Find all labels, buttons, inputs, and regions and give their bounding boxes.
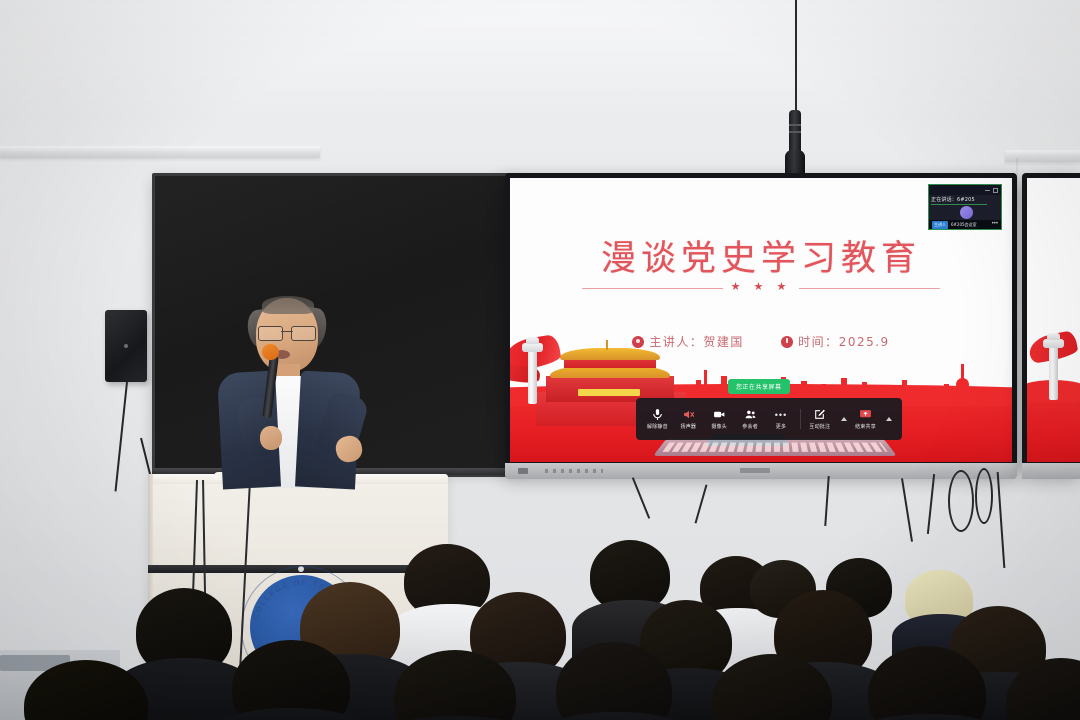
secondary-monument-column [1043, 330, 1065, 400]
toolbar-end-share-label: 结束共享 [855, 423, 876, 430]
toolbar-annotate-label: 互动批注 [809, 423, 830, 430]
meeting-toolbar[interactable]: 解除静音 扬声器 摄像头 [636, 398, 902, 440]
wall-cable-loop-1 [948, 470, 974, 532]
secondary-display[interactable] [1022, 173, 1080, 473]
slide-stars-text: ★ ★ ★ [723, 281, 800, 293]
pip-speaking-name: 6#205 [957, 197, 975, 203]
pip-role-tag: 主讲人 [932, 221, 948, 229]
display-ir-receiver [518, 468, 528, 474]
microphone-icon [651, 408, 664, 421]
speaker-screw [124, 344, 128, 348]
monument-column [522, 332, 542, 404]
toolbar-mute-label: 解除静音 [647, 423, 668, 430]
column-top [526, 337, 539, 344]
pip-avatar [960, 206, 973, 219]
toolbar-camera-label: 摄像头 [711, 423, 727, 430]
slide-time-value: 2025.9 [839, 335, 890, 349]
main-display-screen: 漫谈党史学习教育 ★ ★ ★ 主讲人：贺建国 时间：2025.9 [510, 178, 1012, 462]
ceiling-mic-ring-2 [789, 131, 801, 133]
wall-cable-loop-2 [975, 468, 993, 524]
toolbar-end-share-button[interactable]: 结束共享 [854, 408, 878, 430]
toolbar-participants-button[interactable]: 参会者 [738, 408, 762, 430]
toolbar-camera-button[interactable]: 摄像头 [707, 408, 731, 430]
glasses-lens-right [291, 326, 316, 341]
end-share-caret-icon[interactable] [886, 417, 892, 421]
pip-minimize-icon[interactable] [985, 190, 990, 191]
ceiling-mic-ring [789, 124, 801, 126]
presentation-slide: 漫谈党史学习教育 ★ ★ ★ 主讲人：贺建国 时间：2025.9 [510, 178, 1012, 462]
main-display[interactable]: 漫谈党史学习教育 ★ ★ ★ 主讲人：贺建国 时间：2025.9 [505, 173, 1017, 473]
slide-title: 漫谈党史学习教育 [510, 230, 1012, 281]
presenter [218, 298, 368, 488]
secondary-red-ground [1027, 392, 1080, 462]
toolbar-more-button[interactable]: ••• 更多 [769, 408, 793, 430]
tiananmen-banner [578, 389, 640, 396]
slide-time-label: 时间： [798, 335, 839, 349]
end-share-icon [859, 408, 872, 421]
toolbar-speaker-button[interactable]: 扬声器 [676, 408, 700, 430]
secondary-display-bezel [1022, 463, 1080, 479]
pip-maximize-icon[interactable] [993, 188, 998, 193]
slide-time-item: 时间：2025.9 [781, 333, 890, 350]
toolbar-more-label: 更多 [776, 423, 786, 430]
tiananmen-flagpole [606, 340, 608, 350]
glasses-lens-left [258, 326, 283, 341]
pip-speaking-underline [931, 204, 987, 205]
pip-participant-name: 6#205会议室 [951, 222, 977, 228]
participants-icon [744, 408, 757, 421]
slide-presenter-name: 贺建国 [703, 335, 744, 349]
glasses-icon [258, 326, 316, 339]
lecture-hall-scene: 漫谈党史学习教育 ★ ★ ★ 主讲人：贺建国 时间：2025.9 [0, 0, 1080, 720]
screen-share-badge: 您正在共享屏幕 [728, 379, 790, 394]
toolbar-divider [800, 409, 801, 429]
secondary-column-capital [1043, 339, 1064, 348]
presenter-left-hand [260, 426, 282, 450]
toolbar-participants-label: 参会者 [742, 423, 758, 430]
camera-icon [713, 408, 726, 421]
keyboard-reflection [653, 439, 897, 456]
presenter-hair-top [262, 296, 314, 314]
annotate-icon [813, 408, 826, 421]
pip-speaking-text: 正在讲话：6#205 [931, 196, 975, 203]
meeting-pip-window[interactable]: 正在讲话：6#205 主讲人 6#205会议室 ••• [928, 184, 1002, 230]
pip-more-icon[interactable]: ••• [992, 222, 998, 227]
column-shaft [528, 346, 537, 404]
secondary-column-top [1047, 333, 1060, 340]
column-capital [522, 343, 543, 352]
pip-titlebar[interactable] [929, 185, 1001, 195]
wall-trim-rail-left [0, 146, 320, 158]
secondary-display-screen [1027, 178, 1080, 462]
display-brand-logo [740, 468, 770, 473]
secondary-slide [1027, 178, 1080, 462]
toolbar-mute-button[interactable]: 解除静音 [645, 408, 669, 430]
clock-icon [781, 336, 793, 348]
toolbar-annotate-button[interactable]: 互动批注 [808, 408, 832, 430]
audience-rows [0, 530, 1080, 720]
ceiling-light-gradient [0, 0, 1080, 120]
speaker-muted-icon [682, 408, 695, 421]
display-control-buttons[interactable] [545, 469, 603, 473]
tiananmen-upper-roof [560, 348, 660, 360]
more-dots-icon: ••• [775, 408, 788, 421]
slide-title-stars: ★ ★ ★ [510, 280, 1012, 293]
secondary-column-shaft [1049, 342, 1058, 400]
toolbar-speaker-label: 扬声器 [681, 423, 697, 430]
annotate-caret-icon[interactable] [841, 417, 847, 421]
pip-footer: 主讲人 6#205会议室 ••• [929, 220, 1001, 229]
ceiling-mic-cable [795, 0, 797, 118]
pip-speaking-label: 正在讲话： [931, 197, 957, 203]
wall-speaker [105, 310, 147, 382]
